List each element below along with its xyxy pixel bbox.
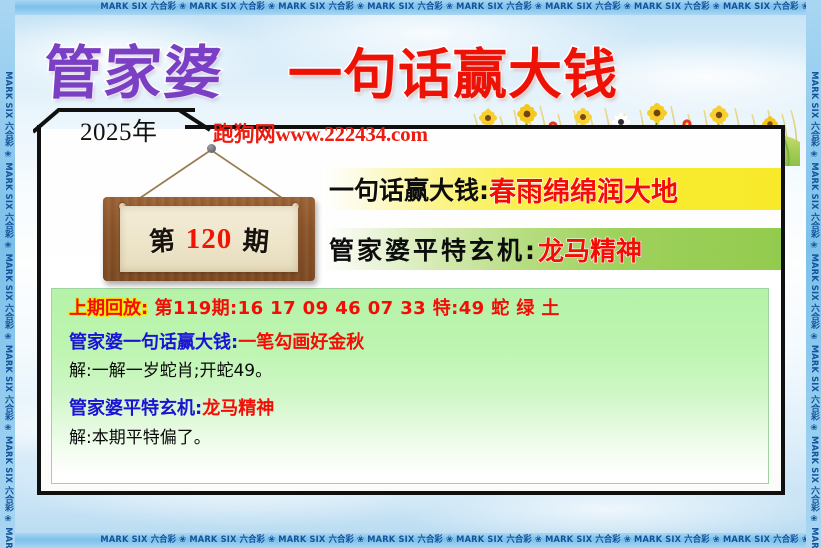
last-draw-replay-row: 上期回放: 第119期:16 17 09 46 07 33 特:49 蛇 绿 土 — [69, 298, 768, 320]
issue-sign: 第 120 期 — [95, 142, 325, 290]
entry-answer-2: 解:本期平特偏了。 — [69, 427, 768, 449]
border-text: MARK SIX 六合彩 ❀ MARK SIX 六合彩 ❀ MARK SIX 六… — [100, 536, 821, 545]
banner-value: 春雨绵绵润大地 — [489, 170, 678, 209]
site-url-label[interactable]: 跑狗网www.222434.com — [213, 118, 428, 148]
sign-paper: 第 120 期 — [120, 206, 298, 272]
banner-yi-ju-hua-ying-da-qian: 一句话赢大钱: 春雨绵绵润大地 — [323, 168, 781, 210]
page-title-brand: 管家婆 — [41, 26, 227, 110]
issue-prefix: 第 — [147, 220, 176, 259]
frame-diagonal-right — [176, 108, 216, 134]
border-strip-bottom: MARK SIX 六合彩 ❀ MARK SIX 六合彩 ❀ MARK SIX 六… — [0, 533, 821, 548]
banner-ping-te-xuan-ji: 管家婆平特玄机: 龙马精神 — [323, 228, 781, 270]
year-label: 2025年 — [80, 112, 158, 148]
entry-value: 一笔勾画好金秋 — [238, 332, 364, 353]
border-text: MARK SIX 六合彩 ❀ MARK SIX 六合彩 ❀ MARK SIX 六… — [3, 71, 12, 548]
border-strip-top: MARK SIX 六合彩 ❀ MARK SIX 六合彩 ❀ MARK SIX 六… — [0, 0, 821, 15]
sign-board: 第 120 期 — [103, 197, 315, 281]
border-strip-right: MARK SIX 六合彩 ❀ MARK SIX 六合彩 ❀ MARK SIX 六… — [806, 0, 821, 548]
banner-label: 管家婆平特玄机: — [329, 231, 538, 267]
result-panel: 上期回放: 第119期:16 17 09 46 07 33 特:49 蛇 绿 土… — [51, 288, 769, 484]
entry-value: 龙马精神 — [202, 398, 274, 419]
border-strip-left: MARK SIX 六合彩 ❀ MARK SIX 六合彩 ❀ MARK SIX 六… — [0, 0, 15, 548]
border-text: MARK SIX 六合彩 ❀ MARK SIX 六合彩 ❀ MARK SIX 六… — [100, 3, 821, 12]
banner-label: 一句话赢大钱: — [329, 171, 489, 207]
entry-heading-1: 管家婆一句话赢大钱:一笔勾画好金秋 — [69, 332, 768, 355]
issue-number: 120 — [186, 223, 233, 256]
entry-heading-2: 管家婆平特玄机:龙马精神 — [69, 398, 768, 421]
replay-numbers: 第119期:16 17 09 46 07 33 特:49 蛇 绿 土 — [154, 298, 559, 319]
banner-value: 龙马精神 — [538, 231, 642, 268]
entry-answer-1: 解:一解一岁蛇肖;开蛇49。 — [69, 360, 768, 382]
lottery-poster: 管家婆 一句话赢大钱 2025年 跑狗网www.222434.com 第 120… — [0, 0, 821, 548]
border-text: MARK SIX 六合彩 ❀ MARK SIX 六合彩 ❀ MARK SIX 六… — [809, 71, 818, 548]
page-title-slogan: 一句话赢大钱 — [288, 30, 618, 109]
entry-label: 管家婆一句话赢大钱: — [69, 332, 238, 353]
entry-label: 管家婆平特玄机: — [69, 398, 202, 419]
replay-label: 上期回放: — [69, 298, 148, 319]
issue-suffix: 期 — [242, 219, 271, 258]
